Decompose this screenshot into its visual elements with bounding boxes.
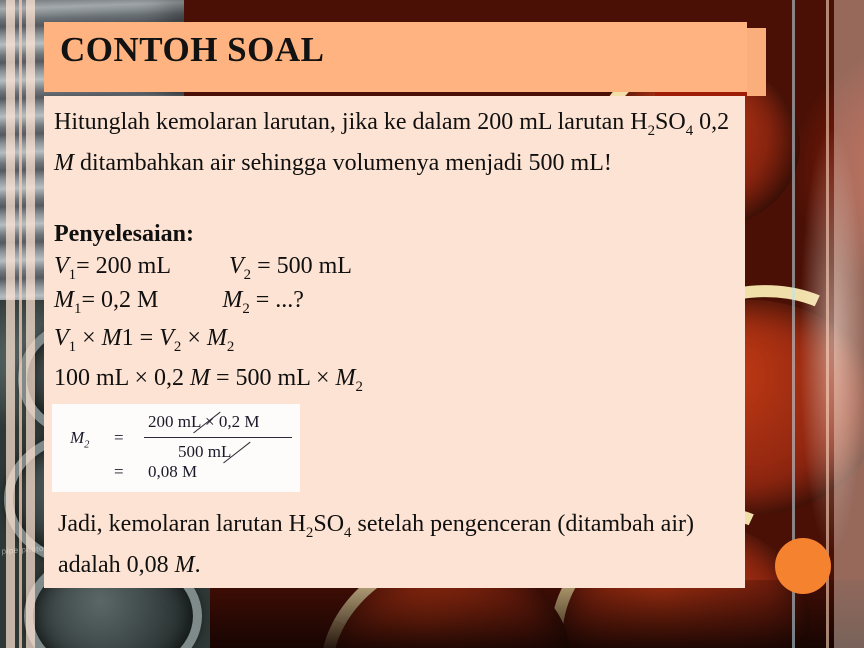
formula-times-1: ×: [76, 325, 102, 351]
left-accent-bar: [6, 0, 15, 648]
solution-heading: Penyelesaian:: [54, 218, 194, 250]
solution-line-4: 100 mL × 0,2 M = 500 mL × M2: [54, 362, 363, 403]
v1-value: = 200 mL: [76, 253, 171, 279]
solution-line-3: V1 × M1 = V2 × M2: [54, 322, 234, 363]
m1-value: = 0,2 M: [81, 287, 158, 313]
formula-v1-subscript: 1: [69, 339, 76, 355]
question-subscript-1: 2: [648, 123, 655, 139]
question-text-3: 0,2: [693, 109, 729, 135]
m1-symbol: M: [54, 287, 74, 313]
v2-value: = 500 mL: [251, 253, 352, 279]
formula-equals: =: [134, 325, 160, 351]
v1-subscript: 1: [69, 267, 76, 283]
solution-line-2: M1= 0,2 MM2 = ...?: [54, 284, 304, 325]
conclusion-molarity-symbol: M: [175, 552, 195, 578]
conclusion-text-2: SO: [313, 511, 344, 537]
equation-equals-bottom: =: [114, 462, 124, 482]
orange-circle-accent: [775, 538, 831, 594]
substitution-part-2: = 500 mL ×: [210, 365, 336, 391]
formula-m2: M: [207, 325, 227, 351]
formula-m1-index: 1: [122, 325, 134, 351]
equation-result: 0,08 M: [148, 462, 197, 482]
page-title: CONTOH SOAL: [60, 30, 325, 70]
v2-symbol: V: [229, 253, 244, 279]
m2-symbol: M: [222, 287, 242, 313]
conclusion-paragraph: Jadi, kemolaran larutan H2SO4 setelah pe…: [58, 508, 728, 581]
question-text-1: Hitunglah kemolaran larutan, jika ke dal…: [54, 109, 648, 135]
v2-subscript: 2: [244, 267, 251, 283]
equation-lhs: M2: [70, 428, 89, 450]
conclusion-text-1: Jadi, kemolaran larutan H: [58, 511, 306, 537]
slide: pipe photo CONTOH SOAL Hitunglah kemolar…: [0, 0, 864, 648]
equation-image-box: M2 = 200 mL × 0,2 M 500 mL = 0,08 M: [52, 404, 300, 492]
formula-m1: M: [102, 325, 122, 351]
formula-v1: V: [54, 325, 69, 351]
equation-denominator: 500 mL: [178, 442, 231, 462]
formula-m2-subscript: 2: [227, 339, 234, 355]
equation-fraction-bar: [144, 437, 292, 438]
substitution-m2: M: [336, 365, 356, 391]
m2-subscript: 2: [242, 301, 249, 317]
substitution-molarity: M: [190, 365, 210, 391]
question-text-2: SO: [655, 109, 686, 135]
equation-numerator: 200 mL × 0,2 M: [148, 412, 259, 432]
question-paragraph: Hitunglah kemolaran larutan, jika ke dal…: [54, 106, 744, 179]
question-molarity-symbol: M: [54, 150, 74, 176]
equation-lhs-symbol: M: [70, 428, 84, 447]
photo-shadow-base: [150, 580, 864, 648]
substitution-part-1: 100 mL × 0,2: [54, 365, 190, 391]
v1-symbol: V: [54, 253, 69, 279]
substitution-m2-subscript: 2: [356, 379, 363, 395]
conclusion-text-4: .: [195, 552, 201, 578]
left-accent-bar-2: [26, 0, 35, 648]
formula-times-2: ×: [181, 325, 207, 351]
right-accent-bar: [834, 0, 864, 648]
formula-v2: V: [159, 325, 174, 351]
question-text-4: ditambahkan air sehingga volumenya menja…: [74, 150, 612, 176]
m2-value: = ...?: [250, 287, 304, 313]
title-band: CONTOH SOAL: [44, 22, 747, 92]
left-accent-line: [19, 0, 22, 648]
equation-lhs-subscript: 2: [84, 439, 89, 450]
equation-equals-top: =: [114, 428, 124, 448]
